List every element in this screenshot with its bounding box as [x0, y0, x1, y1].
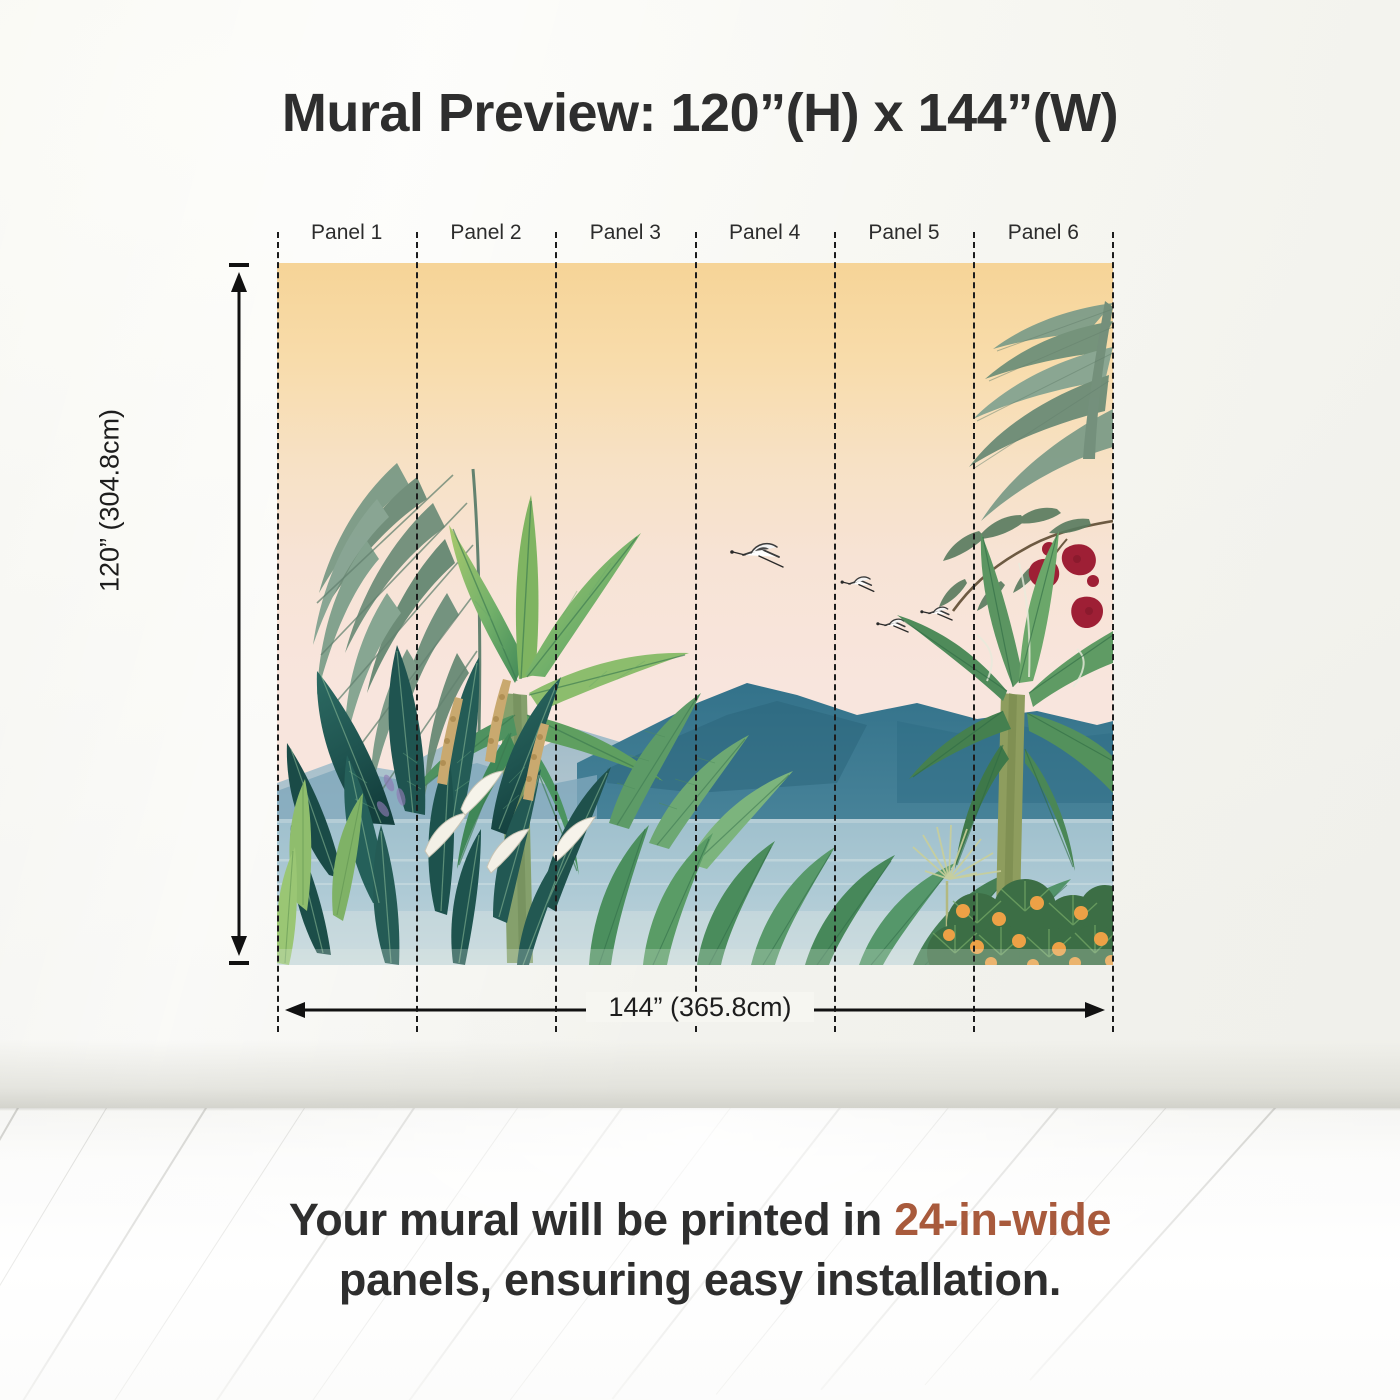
panel-label-5: Panel 5	[834, 216, 973, 250]
panel-divider-2	[555, 232, 557, 1032]
width-dimension-label: 144” (365.8cm)	[0, 992, 1400, 1023]
mural-preview-screenshot: Mural Preview: 120”(H) x 144”(W) Panel 1…	[0, 0, 1400, 1400]
caption-highlight: 24-in-wide	[894, 1194, 1111, 1245]
page-title: Mural Preview: 120”(H) x 144”(W)	[0, 82, 1400, 144]
panel-divider-1	[416, 232, 418, 1032]
panel-divider-6	[1112, 232, 1114, 1032]
caption-line1-before: Your mural will be printed in	[289, 1194, 894, 1245]
panel-label-3: Panel 3	[556, 216, 695, 250]
height-dimension-label: 120” (304.8cm)	[95, 331, 126, 671]
panel-divider-5	[973, 232, 975, 1032]
height-arrowhead-top	[231, 272, 247, 292]
panel-divider-4	[834, 232, 836, 1032]
panel-label-1: Panel 1	[277, 216, 416, 250]
height-dimension-arrow	[227, 258, 251, 970]
panel-label-4: Panel 4	[695, 216, 834, 250]
panel-divider-0	[277, 232, 279, 1032]
floor-wall-seam	[0, 1108, 1400, 1111]
installation-caption: Your mural will be printed in 24-in-wide…	[0, 1190, 1400, 1310]
panel-label-6: Panel 6	[974, 216, 1113, 250]
wall-baseboard-shadow	[0, 1040, 1400, 1108]
caption-line2: panels, ensuring easy installation.	[339, 1254, 1061, 1305]
width-dimension-text: 144” (365.8cm)	[586, 992, 813, 1022]
panel-divider-3	[695, 232, 697, 1032]
height-arrowhead-bottom	[231, 936, 247, 956]
panel-label-2: Panel 2	[416, 216, 555, 250]
